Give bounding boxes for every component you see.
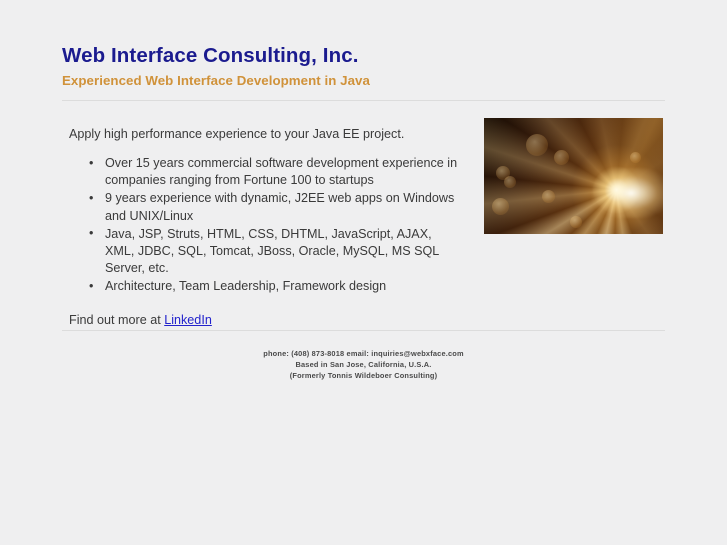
linkedin-link[interactable]: LinkedIn xyxy=(164,313,212,327)
bokeh-circle xyxy=(542,190,555,203)
find-out-more-line: Find out more at LinkedIn xyxy=(69,312,459,329)
divider-top xyxy=(62,100,665,101)
list-item: 9 years experience with dynamic, J2EE we… xyxy=(105,190,459,224)
footer-former-name-line: (Formerly Tonnis Wildeboer Consulting) xyxy=(0,371,727,382)
bokeh-circle xyxy=(554,150,569,165)
main-content: Apply high performance experience to you… xyxy=(69,126,459,329)
bokeh-circle xyxy=(526,134,548,156)
list-item: Architecture, Team Leadership, Framework… xyxy=(105,278,459,295)
list-item: Over 15 years commercial software develo… xyxy=(105,155,459,189)
skills-list: Over 15 years commercial software develo… xyxy=(69,155,459,296)
footer-location-line: Based in San Jose, California, U.S.A. xyxy=(0,360,727,371)
bokeh-circle xyxy=(492,198,509,215)
burst-glow xyxy=(592,168,663,218)
footer-contact-line: phone: (408) 873-8018 email: inquiries@w… xyxy=(0,349,727,360)
site-footer: phone: (408) 873-8018 email: inquiries@w… xyxy=(0,349,727,381)
bokeh-circle xyxy=(630,152,641,163)
fiber-optic-burst-image xyxy=(484,118,663,234)
site-tagline: Experienced Web Interface Development in… xyxy=(62,68,666,89)
bokeh-circle xyxy=(570,216,582,228)
page-root: Web Interface Consulting, Inc. Experienc… xyxy=(0,0,727,545)
intro-paragraph: Apply high performance experience to you… xyxy=(69,126,459,143)
divider-bottom xyxy=(62,330,665,331)
bokeh-circle xyxy=(504,176,516,188)
site-header: Web Interface Consulting, Inc. Experienc… xyxy=(62,44,666,89)
page-title: Web Interface Consulting, Inc. xyxy=(62,44,666,68)
list-item: Java, JSP, Struts, HTML, CSS, DHTML, Jav… xyxy=(105,226,459,278)
find-out-more-prefix: Find out more at xyxy=(69,313,164,327)
